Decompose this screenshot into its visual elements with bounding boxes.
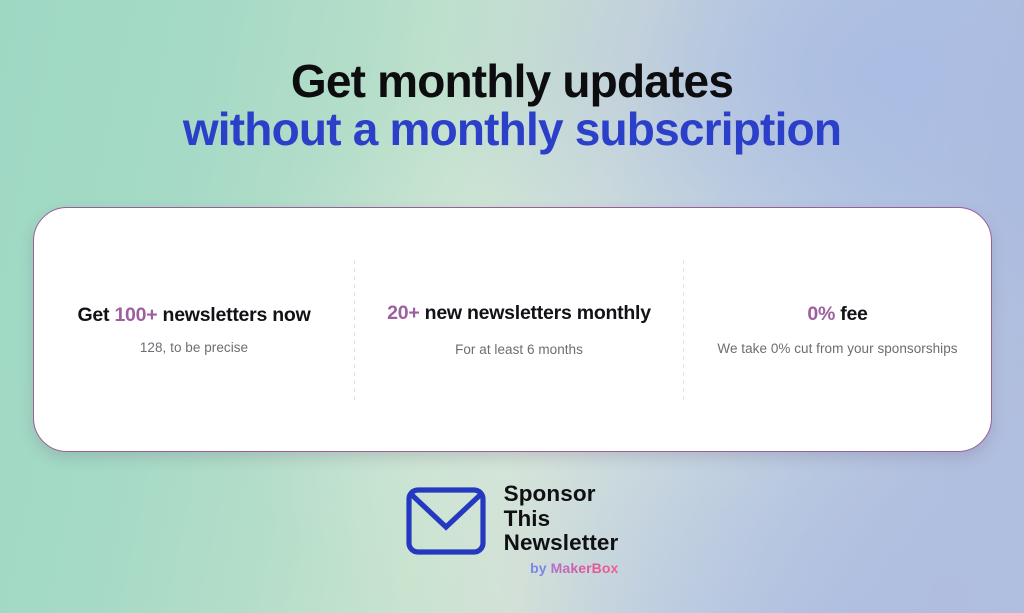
stat-accent-value: 20+: [387, 302, 419, 324]
heading-line-1: Get monthly updates: [0, 58, 1024, 106]
logo-wordmark: Sponsor This Newsletter by MakerBox: [504, 482, 619, 576]
promo-banner: Get monthly updates without a monthly su…: [0, 0, 1024, 613]
stat-title-suffix: newsletters now: [157, 304, 310, 326]
envelope-icon: [406, 487, 486, 555]
logo-brand-name: MakerBox: [551, 560, 619, 576]
logo-line-3: Newsletter: [504, 531, 619, 556]
stat-item-fee: 0% fee We take 0% cut from your sponsors…: [684, 300, 991, 359]
stat-title: Get 100+ newsletters now: [78, 301, 311, 331]
stat-title-suffix: fee: [835, 303, 868, 325]
stat-item-new-monthly: 20+ new newsletters monthly For at least…: [355, 299, 683, 361]
logo-line-1: Sponsor: [504, 482, 596, 507]
stat-subtitle: For at least 6 months: [455, 341, 583, 360]
stats-card: Get 100+ newsletters now 128, to be prec…: [33, 207, 992, 452]
stats-row: Get 100+ newsletters now 128, to be prec…: [34, 260, 991, 400]
stat-subtitle: 128, to be precise: [140, 339, 248, 358]
stat-subtitle: We take 0% cut from your sponsorships: [717, 340, 957, 359]
logo-attribution: by MakerBox: [530, 560, 618, 576]
stat-accent-value: 0%: [807, 303, 835, 325]
stat-item-newsletters-now: Get 100+ newsletters now 128, to be prec…: [34, 301, 354, 359]
stat-title-suffix: new newsletters monthly: [420, 302, 651, 324]
stat-title-prefix: Get: [78, 304, 115, 326]
stat-title: 0% fee: [807, 300, 867, 330]
logo-by-label: by: [530, 560, 551, 576]
stat-title: 20+ new newsletters monthly: [387, 299, 651, 329]
logo: Sponsor This Newsletter by MakerBox: [0, 482, 1024, 576]
page-title: Get monthly updates without a monthly su…: [0, 58, 1024, 154]
logo-line-2: This: [504, 507, 551, 532]
stat-accent-value: 100+: [114, 304, 157, 326]
heading-line-2: without a monthly subscription: [0, 106, 1024, 154]
